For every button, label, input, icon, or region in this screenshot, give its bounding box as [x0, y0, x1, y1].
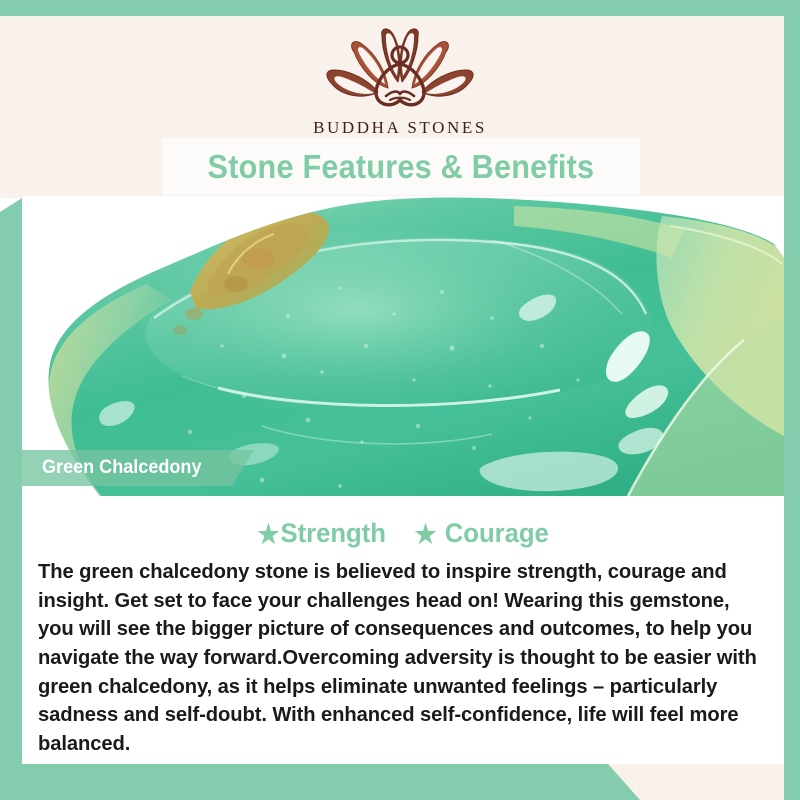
benefit-strength: ★Strength [257, 518, 386, 549]
star-icon: ★ [415, 521, 437, 547]
content-panel: ★Strength ★ Courage The green chalcedony… [22, 496, 784, 764]
body-description: The green chalcedony stone is believed t… [38, 558, 757, 759]
benefit-strength-label: Strength [280, 518, 385, 549]
brand-name: BUDDHA STONES [0, 118, 800, 138]
lotus-meditation-icon [320, 22, 480, 114]
star-icon: ★ [257, 521, 279, 547]
page-title-band: Stone Features & Benefits [162, 138, 640, 195]
stone-caption-chip: Green Chalcedony [22, 450, 254, 486]
frame-left-bar [0, 198, 22, 800]
poster-root: BUDDHA STONES Stone Features & Benefits [0, 0, 800, 800]
frame-top-bar [0, 0, 800, 16]
benefits-row: ★Strength ★ Courage [22, 518, 784, 549]
brand-logo: BUDDHA STONES [0, 22, 800, 138]
frame-bottom-bar [0, 764, 640, 800]
page-title: Stone Features & Benefits [208, 148, 595, 186]
stone-caption: Green Chalcedony [42, 457, 201, 479]
benefit-courage-label: Courage [445, 518, 549, 549]
benefit-courage: ★ Courage [415, 518, 549, 549]
